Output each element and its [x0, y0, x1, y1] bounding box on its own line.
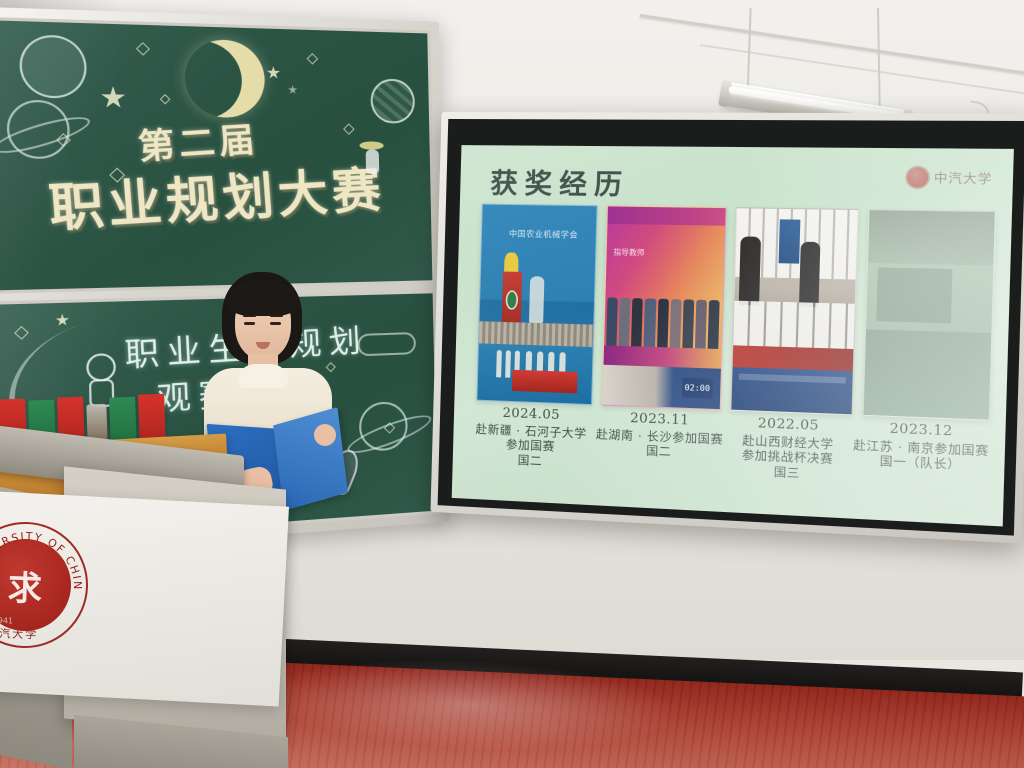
- emblem-outer-text: UNIVERSITY OF CHINA: [0, 522, 87, 592]
- exhibition-attendee: [739, 237, 761, 306]
- photo-caption: 2024.05 赴新疆 · 石河子大学 参加国赛 国二: [474, 405, 587, 491]
- glare-region-middle: [876, 268, 952, 323]
- hair-fringe: [228, 280, 298, 316]
- projection-screen: 获奖经历 中汽大学 中国农业机械学会: [430, 112, 1024, 544]
- prince-hat: [359, 141, 383, 149]
- ringed-planet-chalk-icon: [6, 100, 70, 159]
- photo-overlay-text: 指导教师: [613, 246, 644, 258]
- diamond-chalk-icon: [307, 53, 319, 65]
- glare-region-bottom: [864, 329, 991, 420]
- photo-conference-stage: 中国农业机械学会: [476, 204, 597, 406]
- lineup-person: [669, 299, 681, 347]
- slide-title: 获奖经历: [490, 161, 630, 202]
- star-chalk-icon: [288, 85, 298, 94]
- star-chalk-icon: [101, 86, 126, 110]
- photo-exhibition-hall: [730, 207, 859, 415]
- slide-caption-row: 2024.05 赴新疆 · 石河子大学 参加国赛 国二 2023.11 赴湖南 …: [474, 405, 990, 511]
- timer-display: 02:00: [682, 378, 713, 399]
- eyebrow-left: [243, 315, 256, 317]
- stage-person: [529, 276, 544, 323]
- diamond-chalk-icon: [160, 94, 171, 105]
- presentation-slide: 获奖经历 中汽大学 中国农业机械学会: [452, 145, 1014, 526]
- eye-right: [270, 322, 281, 325]
- university-logo: 中汽大学: [907, 167, 993, 188]
- lineup-person: [619, 298, 631, 346]
- diamond-chalk-icon: [343, 123, 355, 135]
- star-chalk-icon: [55, 314, 69, 327]
- emblem-year: 1941: [0, 616, 13, 626]
- lineup-person: [682, 300, 694, 348]
- star-chalk-icon: [266, 66, 280, 80]
- floor-reflection: [258, 651, 682, 760]
- exhibition-booth-shelf: [733, 301, 855, 349]
- turtleneck-collar: [238, 364, 288, 388]
- photo-caption: 2022.05 赴山西财经大学 参加挑战杯决赛 国三: [731, 415, 844, 503]
- university-logo-text: 中汽大学: [934, 169, 993, 188]
- svg-text:UNIVERSITY OF CHINA: UNIVERSITY OF CHINA: [0, 522, 87, 592]
- ringed-planet-chalk-icon: [359, 401, 408, 452]
- diamond-chalk-icon: [136, 42, 150, 56]
- glare-region-top: [868, 210, 995, 266]
- photo-caption: 2023.11 赴湖南 · 长沙参加国赛 国二: [594, 409, 724, 497]
- diamond-chalk-icon: [14, 326, 29, 340]
- lineup-person: [708, 300, 720, 348]
- exhibition-display-screen: [778, 219, 800, 264]
- exhibition-attendee: [799, 242, 820, 307]
- prince-body: [366, 150, 380, 174]
- blackboard-title-line2: 职业规划大赛: [46, 150, 387, 242]
- lineup-person: [644, 299, 656, 347]
- university-emblem: UNIVERSITY OF CHINA 求 1941 中汽大学: [0, 520, 90, 650]
- eye-left: [244, 322, 255, 325]
- classroom-scene: 第二届 职业规划大赛 职业生涯规划 观赛活动: [0, 0, 1024, 768]
- hand-right: [314, 424, 336, 446]
- planet-globe-chalk-icon: [19, 34, 87, 98]
- lineup-person: [695, 300, 707, 348]
- photo-overlay-text: 中国农业机械学会: [509, 229, 578, 241]
- lineup-person: [606, 298, 618, 346]
- little-prince-chalk-icon: [359, 141, 386, 176]
- blackboard-upper-panel: 第二届 职业规划大赛: [0, 17, 435, 294]
- lineup-person: [657, 299, 669, 347]
- screen-surface: 获奖经历 中汽大学 中国农业机械学会: [438, 119, 1024, 536]
- photo-award-ceremony: 指导教师: [601, 205, 726, 410]
- eyebrow-right: [270, 315, 283, 317]
- photo-caption: 2023.12 赴江苏 · 南京参加国赛 国一（队长）: [851, 420, 989, 511]
- red-team-banner: [511, 370, 578, 394]
- photo-glare-washed: [863, 209, 996, 421]
- award-lineup: [606, 298, 720, 349]
- striped-planet-chalk-icon: [370, 78, 415, 123]
- emblem-subtext: 中汽大学: [0, 625, 39, 643]
- astronaut-helmet: [86, 353, 116, 382]
- lineup-person: [631, 298, 643, 346]
- blue-group-photo: [731, 367, 853, 414]
- university-logo-mark: [907, 167, 929, 187]
- slide-photo-row: 中国农业机械学会: [476, 204, 996, 421]
- ceremony-top-banner: [607, 206, 725, 226]
